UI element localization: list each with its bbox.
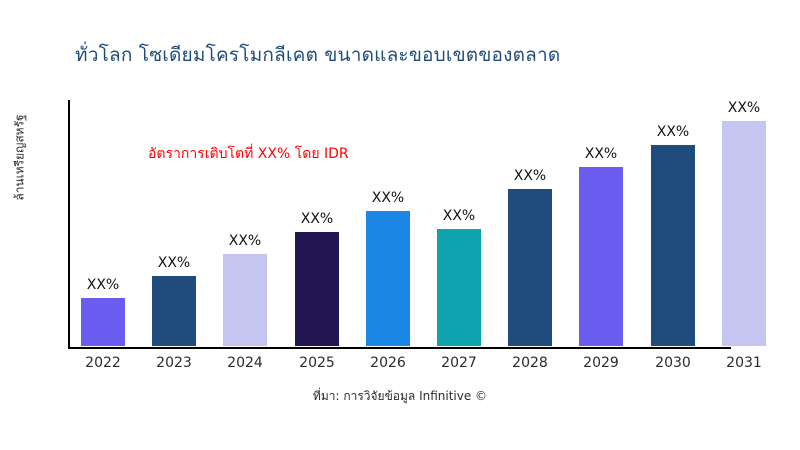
x-tick-label: 2023 bbox=[141, 355, 207, 371]
bar-value-label: XX% bbox=[426, 208, 492, 224]
bar[interactable] bbox=[152, 276, 196, 346]
bar[interactable] bbox=[223, 254, 267, 346]
bar-group: XX% bbox=[141, 99, 207, 346]
bar-chart: ทั่วโลก โซเดียมโครโมกลีเคต ขนาดและขอบเขต… bbox=[0, 0, 800, 450]
x-tick-label: 2022 bbox=[70, 355, 136, 371]
bar-group: XX% bbox=[284, 99, 350, 346]
bar-group: XX% bbox=[640, 99, 706, 346]
x-tick-label: 2031 bbox=[711, 355, 777, 371]
bar-group: XX% bbox=[426, 99, 492, 346]
source-note: ที่มา: การวิจัยข้อมูล Infinitive © bbox=[0, 387, 800, 406]
bar-group: XX% bbox=[497, 99, 563, 346]
bar-value-label: XX% bbox=[70, 277, 136, 293]
bar-group: XX% bbox=[355, 99, 421, 346]
bar-group: XX% bbox=[568, 99, 634, 346]
bar-value-label: XX% bbox=[497, 168, 563, 184]
chart-title: ทั่วโลก โซเดียมโครโมกลีเคต ขนาดและขอบเขต… bbox=[75, 40, 560, 70]
bar-value-label: XX% bbox=[568, 146, 634, 162]
plot-area: XX%XX%XX%XX%XX%XX%XX%XX%XX%XX% bbox=[68, 100, 780, 348]
bar[interactable] bbox=[295, 232, 339, 346]
bar-value-label: XX% bbox=[284, 211, 350, 227]
bar-group: XX% bbox=[212, 99, 278, 346]
x-tick-label: 2030 bbox=[640, 355, 706, 371]
x-tick-label: 2029 bbox=[568, 355, 634, 371]
x-tick-label: 2025 bbox=[284, 355, 350, 371]
growth-rate-annotation: อัตราการเติบโตที่ XX% โดย IDR bbox=[148, 143, 349, 165]
x-axis-line bbox=[68, 347, 731, 349]
bar[interactable] bbox=[651, 145, 695, 346]
bar[interactable] bbox=[579, 167, 623, 346]
bar[interactable] bbox=[722, 121, 766, 346]
x-tick-label: 2027 bbox=[426, 355, 492, 371]
bar-value-label: XX% bbox=[640, 124, 706, 140]
bar[interactable] bbox=[508, 189, 552, 346]
bar[interactable] bbox=[437, 229, 481, 346]
x-tick-label: 2028 bbox=[497, 355, 563, 371]
bar-value-label: XX% bbox=[711, 100, 777, 116]
x-axis-tick-labels: 2022202320242025202620272028202920302031 bbox=[68, 355, 780, 377]
bar[interactable] bbox=[81, 298, 125, 346]
bar-group: XX% bbox=[711, 99, 777, 346]
bar-value-label: XX% bbox=[141, 255, 207, 271]
bar[interactable] bbox=[366, 211, 410, 346]
bar-value-label: XX% bbox=[212, 233, 278, 249]
y-axis-label: ล้านเหรียญสหรัฐ bbox=[11, 78, 30, 238]
x-tick-label: 2026 bbox=[355, 355, 421, 371]
x-tick-label: 2024 bbox=[212, 355, 278, 371]
bar-group: XX% bbox=[70, 99, 136, 346]
bar-value-label: XX% bbox=[355, 190, 421, 206]
